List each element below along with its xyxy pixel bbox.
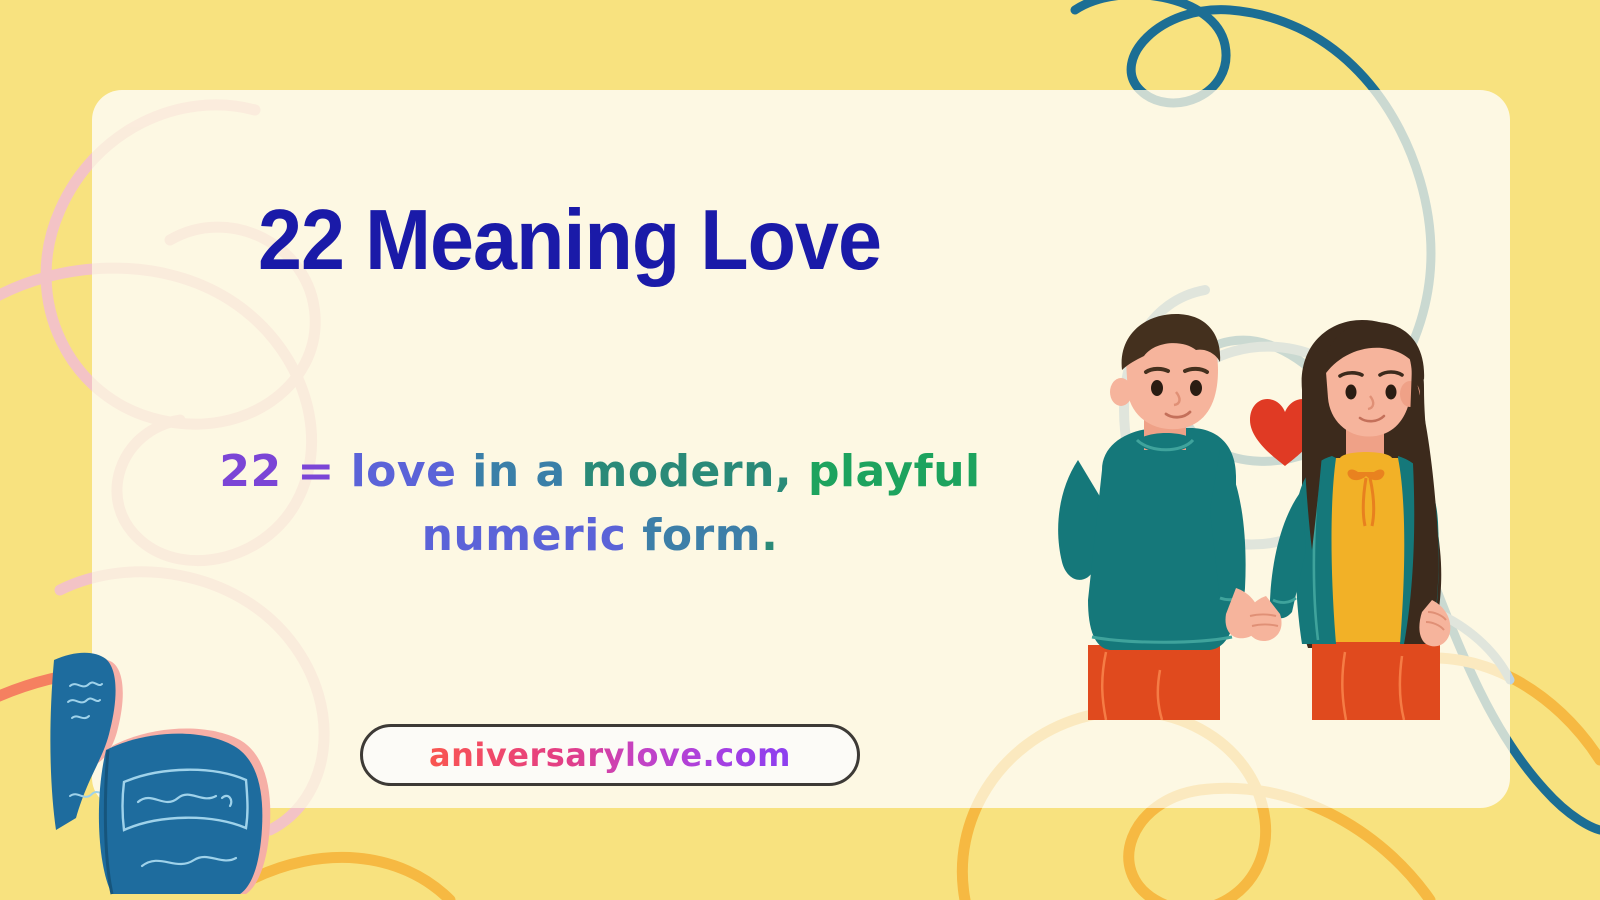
man-eye-right	[1190, 380, 1202, 396]
woman-skirt	[1312, 640, 1440, 720]
website-url-badge[interactable]: aniversarylove.com	[360, 724, 860, 786]
subtitle-segment-3: in a	[472, 446, 581, 497]
page-title: 22 Meaning Love	[258, 192, 881, 290]
woman-eye-right	[1386, 385, 1397, 400]
man-eye-left	[1151, 380, 1163, 396]
subtitle-segment-6: numeric	[422, 510, 643, 561]
couple-illustration	[1040, 300, 1460, 720]
subtitle-segment-5: playful	[808, 446, 981, 497]
subtitle-segment-1: 22 =	[219, 446, 350, 497]
subtitle-segment-8: .	[761, 510, 778, 561]
subtitle-segment-7: form	[642, 510, 761, 561]
subtitle-segment-4: modern,	[581, 446, 807, 497]
woman-blouse	[1326, 458, 1410, 642]
subtitle-text: 22 = love in a modern, playful numeric f…	[180, 440, 1020, 568]
website-url-label: aniversarylove.com	[429, 736, 791, 774]
woman-eye-left	[1346, 385, 1357, 400]
subtitle-segment-2: love	[351, 446, 473, 497]
open-book-illustration	[20, 618, 310, 900]
poster-canvas: 22 Meaning Love 22 = love in a modern, p…	[0, 0, 1600, 900]
man-pants	[1088, 645, 1220, 720]
